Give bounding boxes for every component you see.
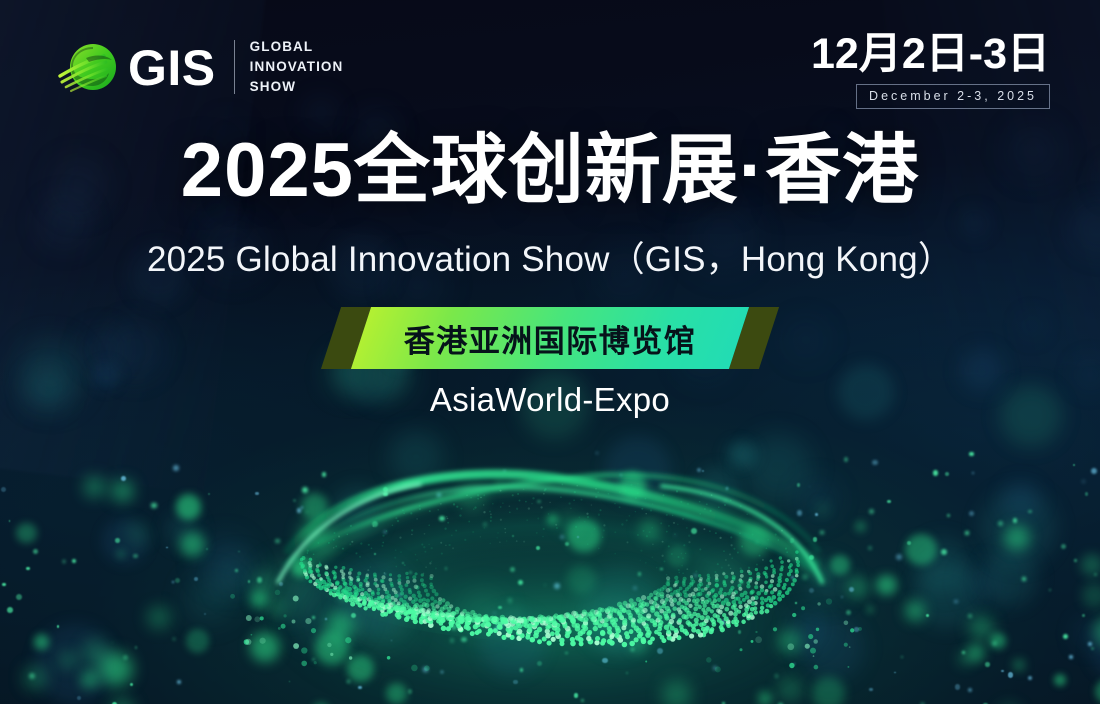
bokeh-sparkle bbox=[1085, 492, 1088, 495]
tagline-line-2: INNOVATION bbox=[250, 57, 344, 77]
bokeh-dot bbox=[250, 590, 269, 609]
bokeh-dot bbox=[1075, 620, 1100, 647]
bokeh-sparkle bbox=[1074, 559, 1077, 562]
event-date-block: 12月2日-3日 December 2-3, 2025 bbox=[811, 32, 1050, 109]
bokeh-dot bbox=[147, 606, 170, 629]
bokeh-dot bbox=[1004, 525, 1030, 551]
bokeh-sparkle bbox=[846, 610, 851, 615]
bokeh-sparkle bbox=[626, 672, 628, 674]
bokeh-sparkle bbox=[1091, 647, 1094, 650]
bokeh-sparkle bbox=[581, 699, 584, 702]
bokeh-sparkle bbox=[1069, 655, 1073, 659]
bokeh-sparkle bbox=[1082, 480, 1085, 483]
bokeh-sparkle bbox=[969, 511, 974, 516]
bokeh-sparkle bbox=[1061, 544, 1066, 549]
bokeh-dot bbox=[830, 555, 850, 575]
bokeh-sparkle bbox=[123, 655, 128, 660]
bokeh-dot bbox=[128, 525, 145, 542]
bokeh-dot bbox=[812, 677, 844, 704]
bokeh-sparkle bbox=[962, 651, 965, 654]
bokeh-dot bbox=[980, 489, 1057, 566]
bokeh-sparkle bbox=[1, 487, 6, 492]
bokeh-sparkle bbox=[115, 538, 120, 543]
bokeh-sparkle bbox=[1073, 464, 1075, 466]
bokeh-sparkle bbox=[177, 680, 181, 684]
bokeh-sparkle bbox=[841, 596, 843, 598]
logo-divider bbox=[234, 40, 235, 94]
bokeh-sparkle bbox=[926, 614, 929, 617]
bokeh-sparkle bbox=[112, 642, 114, 644]
bokeh-sparkle bbox=[204, 613, 206, 615]
venue-name-cn: 香港亚洲国际博览馆 bbox=[335, 307, 765, 369]
bokeh-dot bbox=[905, 601, 925, 621]
bokeh-dot bbox=[166, 513, 200, 547]
gis-wordmark: GIS bbox=[128, 43, 216, 93]
bokeh-dot bbox=[1081, 554, 1100, 576]
bokeh-sparkle bbox=[208, 493, 210, 495]
bokeh-sparkle bbox=[235, 569, 238, 572]
bokeh-sparkle bbox=[33, 549, 38, 554]
event-date-cn: 12月2日-3日 bbox=[811, 32, 1050, 77]
bokeh-sparkle bbox=[1049, 589, 1051, 591]
bokeh-dot bbox=[80, 670, 99, 689]
bokeh-sparkle bbox=[854, 627, 858, 631]
bokeh-dot bbox=[16, 523, 37, 544]
bokeh-dot bbox=[26, 669, 44, 687]
bokeh-sparkle bbox=[248, 580, 251, 583]
bokeh-dot bbox=[759, 692, 771, 704]
bokeh-sparkle bbox=[166, 547, 168, 549]
bokeh-sparkle bbox=[63, 560, 65, 562]
bokeh-sparkle bbox=[29, 673, 35, 679]
bokeh-dot bbox=[117, 550, 125, 558]
bokeh-sparkle bbox=[887, 500, 891, 504]
bokeh-dot bbox=[914, 562, 980, 628]
bokeh-sparkle bbox=[1008, 672, 1014, 678]
bokeh-dot bbox=[990, 633, 1006, 649]
event-date-en-box: December 2-3, 2025 bbox=[856, 84, 1050, 109]
bokeh-sparkle bbox=[1001, 670, 1003, 672]
bokeh-sparkle bbox=[574, 693, 579, 698]
brand-lockup[interactable]: GIS GLOBAL INNOVATION SHOW bbox=[56, 36, 343, 98]
venue-name-en: AsiaWorld-Expo bbox=[0, 381, 1100, 419]
bokeh-sparkle bbox=[1088, 642, 1092, 646]
bokeh-dot bbox=[199, 536, 251, 588]
bokeh-dot bbox=[876, 575, 896, 595]
bokeh-sparkle bbox=[868, 546, 872, 550]
bokeh-sparkle bbox=[408, 689, 413, 694]
bokeh-sparkle bbox=[985, 662, 990, 667]
bokeh-sparkle bbox=[972, 472, 974, 474]
bokeh-dot bbox=[967, 644, 985, 662]
bokeh-sparkle bbox=[194, 577, 199, 582]
bokeh-sparkle bbox=[9, 520, 11, 522]
bokeh-sparkle bbox=[16, 594, 22, 600]
bokeh-sparkle bbox=[440, 670, 444, 674]
bokeh-sparkle bbox=[849, 587, 855, 593]
bokeh-sparkle bbox=[1082, 614, 1084, 616]
bokeh-dot bbox=[1002, 481, 1040, 519]
bokeh-sparkle bbox=[7, 607, 13, 613]
bokeh-sparkle bbox=[172, 581, 174, 583]
bokeh-dot bbox=[186, 629, 209, 652]
bokeh-dot bbox=[1054, 674, 1067, 687]
bokeh-sparkle bbox=[933, 470, 938, 475]
bokeh-sparkle bbox=[2, 583, 5, 586]
bokeh-sparkle bbox=[907, 541, 911, 545]
bokeh-dot bbox=[846, 576, 869, 599]
main-title-cn: 2025全球创新展·香港 bbox=[0, 131, 1100, 212]
bokeh-dot bbox=[102, 518, 148, 564]
bokeh-sparkle bbox=[133, 554, 138, 559]
green-particle-torus-graphic bbox=[270, 432, 830, 662]
bokeh-dot bbox=[61, 653, 75, 667]
event-date-en: December 2-3, 2025 bbox=[869, 89, 1037, 103]
bokeh-dot bbox=[34, 634, 49, 649]
bokeh-sparkle bbox=[513, 680, 517, 684]
bokeh-sparkle bbox=[955, 684, 961, 690]
bokeh-sparkle bbox=[869, 688, 873, 692]
bokeh-dot bbox=[970, 616, 993, 639]
venue-banner: 香港亚洲国际博览馆 bbox=[0, 307, 1100, 369]
bokeh-dot bbox=[966, 567, 999, 600]
tagline-line-3: SHOW bbox=[250, 77, 344, 97]
bokeh-sparkle bbox=[1063, 634, 1068, 639]
bokeh-sparkle bbox=[72, 559, 76, 563]
bokeh-sparkle bbox=[965, 531, 969, 535]
bokeh-sparkle bbox=[135, 646, 137, 648]
bokeh-dot bbox=[1093, 616, 1100, 647]
bokeh-dot bbox=[180, 532, 205, 557]
bokeh-sparkle bbox=[969, 452, 973, 456]
bokeh-sparkle bbox=[968, 614, 972, 618]
bokeh-sparkle bbox=[945, 472, 949, 476]
gis-2025-promo-banner: GIS GLOBAL INNOVATION SHOW 12月2日-3日 Dece… bbox=[0, 0, 1100, 704]
bokeh-sparkle bbox=[238, 551, 240, 553]
bokeh-sparkle bbox=[77, 696, 81, 700]
bokeh-sparkle bbox=[1022, 577, 1025, 580]
bokeh-sparkle bbox=[1028, 510, 1031, 513]
brand-tagline: GLOBAL INNOVATION SHOW bbox=[250, 37, 344, 97]
bokeh-sparkle bbox=[947, 514, 950, 517]
bokeh-sparkle bbox=[998, 521, 1003, 526]
bokeh-sparkle bbox=[992, 641, 997, 646]
bokeh-sparkle bbox=[175, 578, 180, 583]
bokeh-sparkle bbox=[57, 625, 59, 627]
bokeh-sparkle bbox=[1091, 468, 1097, 474]
bokeh-dot bbox=[866, 605, 875, 614]
bokeh-dot bbox=[981, 550, 1038, 607]
bokeh-sparkle bbox=[896, 554, 902, 560]
bokeh-dot bbox=[35, 624, 114, 703]
bokeh-dot bbox=[186, 576, 233, 623]
bokeh-dot bbox=[777, 676, 803, 702]
banner-header: GIS GLOBAL INNOVATION SHOW 12月2日-3日 Dece… bbox=[56, 32, 1050, 118]
bokeh-dot bbox=[958, 651, 972, 665]
bokeh-sparkle bbox=[968, 688, 972, 692]
bokeh-sparkle bbox=[173, 638, 175, 640]
bokeh-sparkle bbox=[130, 683, 133, 686]
bokeh-dot bbox=[1089, 619, 1100, 678]
bokeh-sparkle bbox=[347, 680, 350, 683]
bokeh-sparkle bbox=[26, 567, 29, 570]
bokeh-dot bbox=[1082, 583, 1100, 608]
bokeh-dot bbox=[1013, 659, 1026, 672]
bokeh-sparkle bbox=[289, 681, 291, 683]
bokeh-dot bbox=[111, 699, 133, 704]
bokeh-sparkle bbox=[954, 600, 958, 604]
bokeh-sparkle bbox=[901, 656, 903, 658]
bokeh-dot bbox=[1095, 679, 1100, 704]
bokeh-sparkle bbox=[872, 460, 877, 465]
bokeh-sparkle bbox=[869, 509, 874, 514]
bokeh-sparkle bbox=[894, 672, 896, 674]
bokeh-sparkle bbox=[941, 549, 947, 555]
bokeh-sparkle bbox=[520, 668, 524, 672]
bokeh-dot bbox=[176, 494, 202, 520]
bokeh-dot bbox=[855, 521, 867, 533]
bokeh-sparkle bbox=[151, 503, 157, 509]
bokeh-sparkle bbox=[255, 492, 259, 496]
tagline-line-1: GLOBAL bbox=[250, 37, 344, 57]
bokeh-sparkle bbox=[257, 577, 263, 583]
bokeh-dot bbox=[82, 639, 109, 666]
bokeh-dot bbox=[386, 683, 407, 704]
bokeh-sparkle bbox=[1028, 676, 1033, 681]
bokeh-sparkle bbox=[775, 674, 778, 677]
bokeh-dot bbox=[905, 534, 936, 565]
bokeh-dot bbox=[99, 652, 133, 686]
main-title-en: 2025 Global Innovation Show（GIS，Hong Kon… bbox=[0, 231, 1100, 282]
bokeh-sparkle bbox=[358, 686, 361, 689]
bokeh-sparkle bbox=[1094, 573, 1097, 576]
bokeh-dot bbox=[915, 538, 971, 594]
bokeh-sparkle bbox=[844, 457, 848, 461]
gis-swirl-logo-icon bbox=[56, 36, 122, 98]
bokeh-sparkle bbox=[919, 615, 921, 617]
bokeh-dot bbox=[662, 680, 692, 704]
bokeh-sparkle bbox=[1013, 518, 1018, 523]
bokeh-dot bbox=[218, 557, 257, 596]
bokeh-sparkle bbox=[206, 548, 208, 550]
